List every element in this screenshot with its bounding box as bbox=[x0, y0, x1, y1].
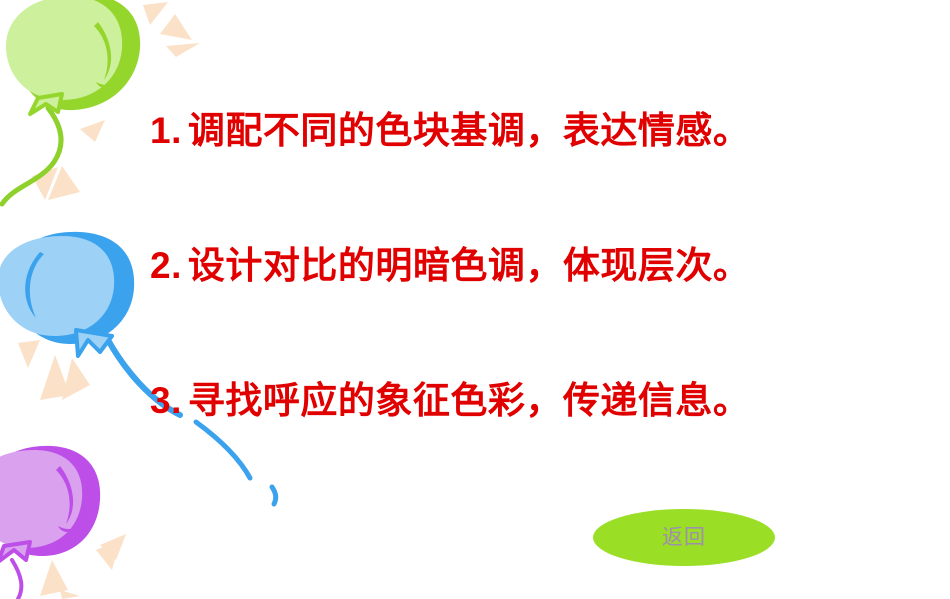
bullet-item-1: 1.调配不同的色块基调，表达情感。 bbox=[150, 112, 750, 150]
slide-canvas: 1.调配不同的色块基调，表达情感。 2.设计对比的明暗色调，体现层次。 3.寻找… bbox=[0, 0, 950, 599]
back-button-label: 返回 bbox=[662, 527, 706, 548]
bullet-list: 1.调配不同的色块基调，表达情感。 2.设计对比的明暗色调，体现层次。 3.寻找… bbox=[0, 0, 950, 599]
bullet-item-2: 2.设计对比的明暗色调，体现层次。 bbox=[150, 247, 750, 285]
bullet-text-1: 调配不同的色块基调，表达情感。 bbox=[188, 111, 751, 152]
back-button[interactable]: 返回 bbox=[593, 509, 775, 566]
bullet-text-2: 设计对比的明暗色调，体现层次。 bbox=[188, 246, 751, 287]
bullet-item-3: 3.寻找呼应的象征色彩，传递信息。 bbox=[150, 382, 750, 420]
bullet-text-3: 寻找呼应的象征色彩，传递信息。 bbox=[188, 381, 751, 422]
bullet-number-1: 1. bbox=[150, 110, 188, 151]
bullet-number-2: 2. bbox=[150, 245, 188, 286]
bullet-number-3: 3. bbox=[150, 380, 188, 421]
